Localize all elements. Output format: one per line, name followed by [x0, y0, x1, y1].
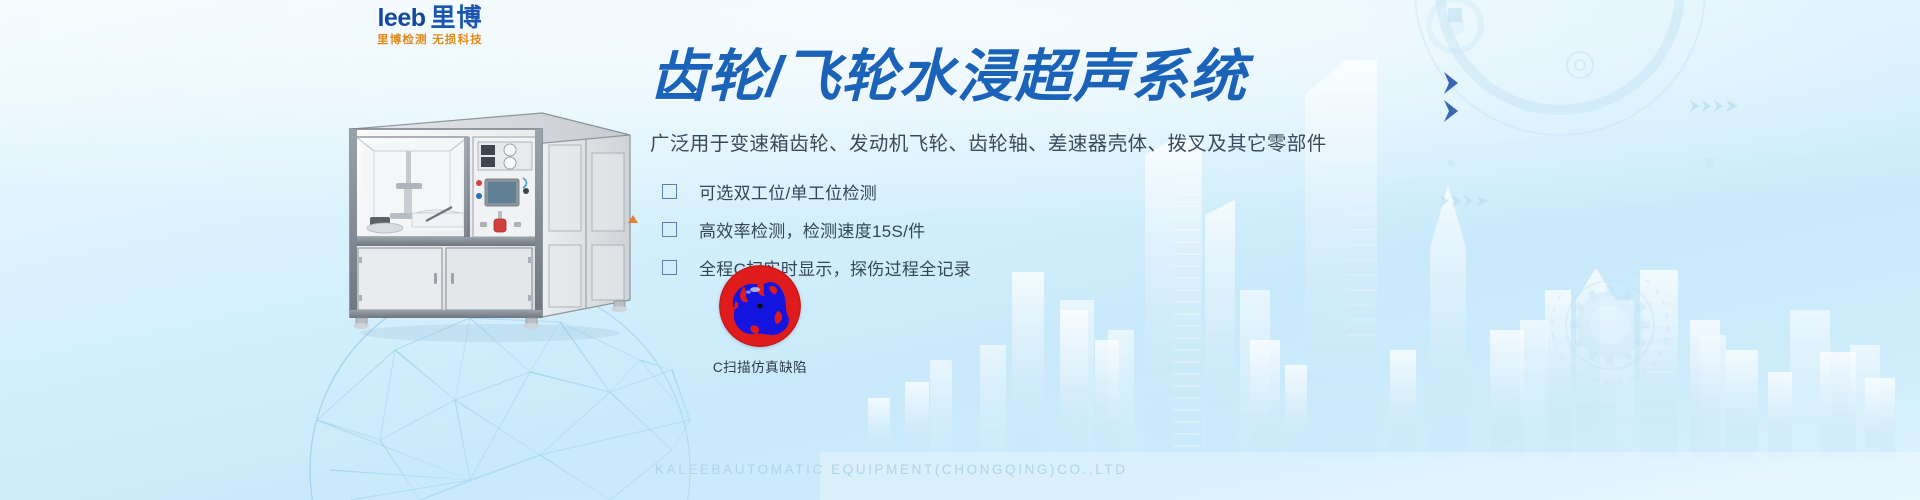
- machine-illustration: [330, 95, 650, 345]
- cscan-image: [719, 265, 801, 347]
- gear-icon-small: [1429, 0, 1481, 51]
- logo-chinese: 里博: [431, 4, 483, 32]
- machine-photo: [330, 95, 650, 345]
- promo-banner: leeb里博 里博检测 无损科技 齿轮/飞轮水浸超声系统 广泛用于变速箱齿轮、发…: [0, 0, 1920, 500]
- company-name: KALEEBAUTOMATIC EQUIPMENT(CHONGQING)CO.,…: [655, 462, 1128, 477]
- page-title: 齿轮/飞轮水浸超声系统: [650, 48, 1550, 108]
- checkbox-icon: [662, 222, 677, 237]
- gear-icon: [1570, 285, 1650, 365]
- list-item: 可选双工位/单工位检测: [650, 174, 1550, 210]
- checkbox-icon: [662, 184, 677, 199]
- list-item: 高效率检测，检测速度15S/件: [650, 212, 1550, 248]
- logo-tagline: 里博检测 无损科技: [345, 35, 515, 46]
- feature-label: 高效率检测，检测速度15S/件: [699, 217, 925, 242]
- logo-latin: leeb: [377, 4, 425, 32]
- logo-wordmark: leeb里博: [345, 6, 515, 31]
- cscan-svg: [719, 265, 801, 347]
- hero-subtitle: 广泛用于变速箱齿轮、发动机飞轮、齿轮轴、差速器壳体、拨叉及其它零部件: [650, 127, 1550, 156]
- cscan-caption: C扫描仿真缺陷: [670, 356, 850, 376]
- hero-content: 齿轮/飞轮水浸超声系统 广泛用于变速箱齿轮、发动机飞轮、齿轮轴、差速器壳体、拨叉…: [650, 48, 1550, 288]
- feature-label: 可选双工位/单工位检测: [699, 179, 877, 204]
- cscan-sample: C扫描仿真缺陷: [670, 265, 850, 376]
- chevron-arrow-set-right-top: [1690, 100, 1738, 112]
- brand-logo[interactable]: leeb里博 里博检测 无损科技: [345, 6, 515, 47]
